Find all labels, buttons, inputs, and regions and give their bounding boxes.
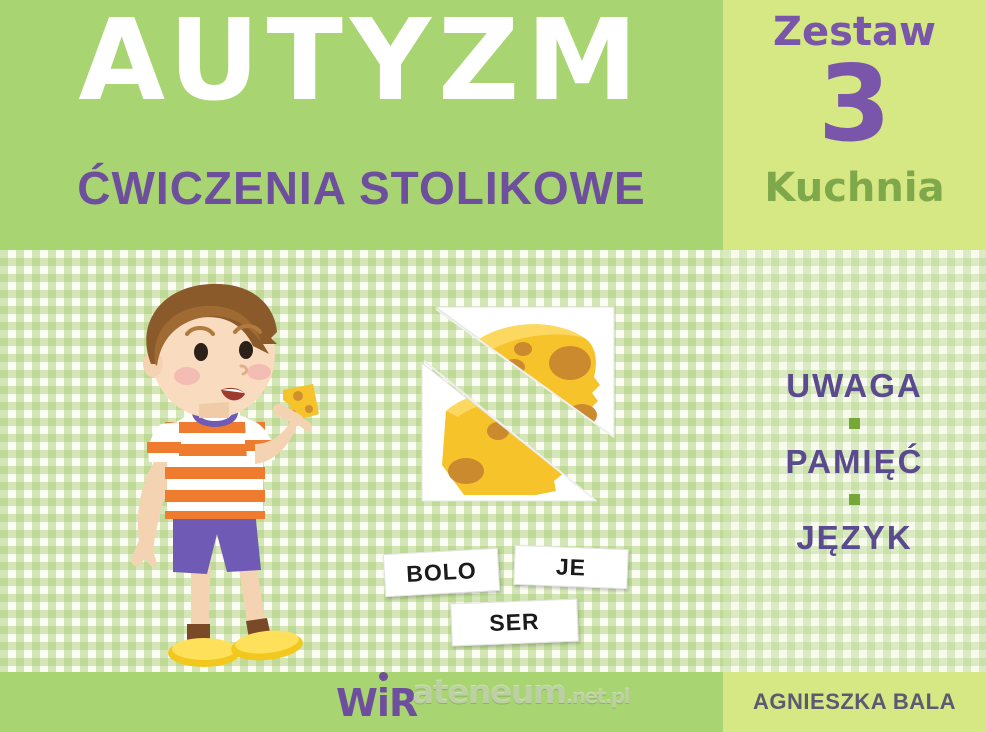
sidebar-item-uwaga: UWAGA [786, 369, 923, 402]
page-subtitle: ĆWICZENIA STOLIKOWE [0, 165, 723, 211]
boy-illustration [95, 272, 335, 672]
logo-letter-i: i [377, 681, 389, 725]
word-card-ser[interactable]: SER [450, 599, 579, 647]
word-card-label: BOLO [406, 557, 478, 588]
logo-letter-w: W [336, 681, 377, 725]
word-card-je[interactable]: JE [513, 545, 628, 589]
set-topic: Kuchnia [723, 168, 986, 208]
author-name: AGNIESZKA BALA [723, 691, 986, 713]
book-cover: AUTYZM ĆWICZENIA STOLIKOWE Zestaw 3 Kuch… [0, 0, 986, 732]
sidebar-separator-square [849, 494, 860, 505]
cheese-puzzle-illustration [418, 305, 623, 505]
word-card-label: JE [555, 553, 586, 581]
ateneum-watermark: ateneum.net.pl [412, 675, 629, 708]
page-title: AUTYZM [0, 5, 723, 117]
sidebar-item-jezyk: JĘZYK [796, 521, 912, 554]
watermark-tld: .net.pl [566, 684, 629, 708]
set-number: 3 [723, 52, 986, 157]
cover-header: AUTYZM ĆWICZENIA STOLIKOWE Zestaw 3 Kuch… [0, 0, 986, 250]
wir-publisher-logo: WiR [336, 684, 417, 722]
word-card-label: SER [489, 608, 540, 637]
watermark-name: ateneum [412, 672, 566, 711]
word-card-bolo[interactable]: BOLO [383, 548, 500, 597]
sidebar-skills-list: UWAGA PAMIĘĆ JĘZYK [723, 250, 986, 672]
sidebar-item-pamiec: PAMIĘĆ [786, 445, 924, 478]
sidebar-separator-square [849, 418, 860, 429]
